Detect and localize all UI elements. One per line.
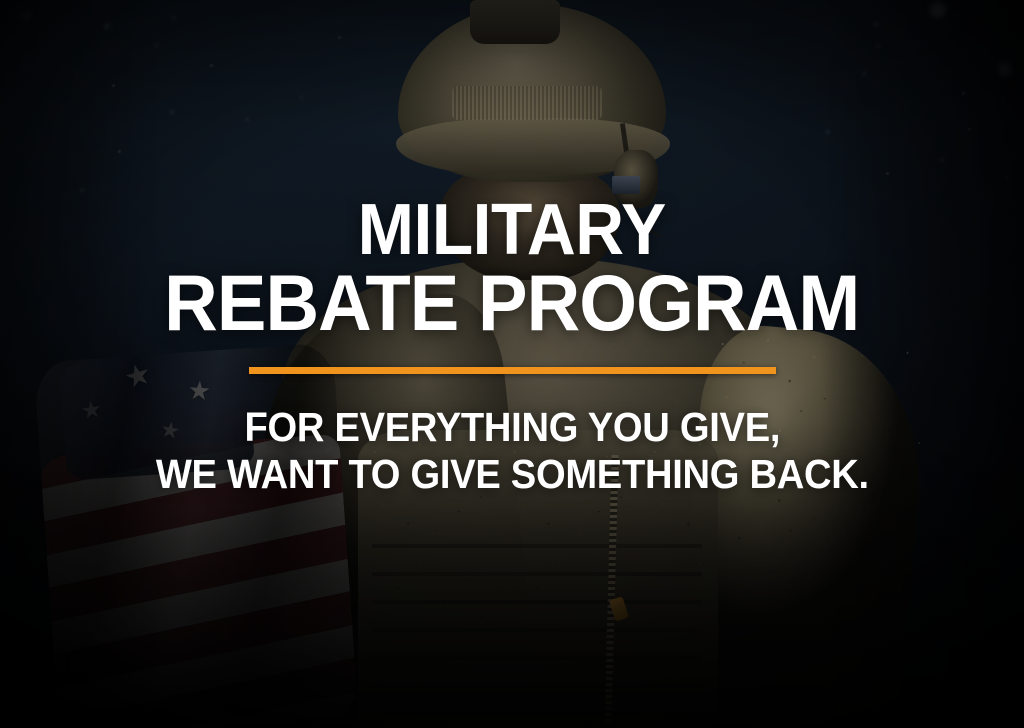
subheadline-line-2: WE WANT TO GIVE SOMETHING BACK. <box>155 451 868 498</box>
headline: MILITARY REBATE PROGRAM <box>164 196 859 341</box>
subheadline: FOR EVERYTHING YOU GIVE, WE WANT TO GIVE… <box>155 404 868 497</box>
subheadline-line-1: FOR EVERYTHING YOU GIVE, <box>155 404 868 451</box>
banner-content: MILITARY REBATE PROGRAM FOR EVERYTHING Y… <box>0 0 1024 728</box>
orange-divider <box>249 367 776 374</box>
headline-line-2: REBATE PROGRAM <box>164 265 859 341</box>
military-rebate-banner: ★ ★ ★ ★ MILITARY REBATE PROGRAM FOR EVER… <box>0 0 1024 728</box>
